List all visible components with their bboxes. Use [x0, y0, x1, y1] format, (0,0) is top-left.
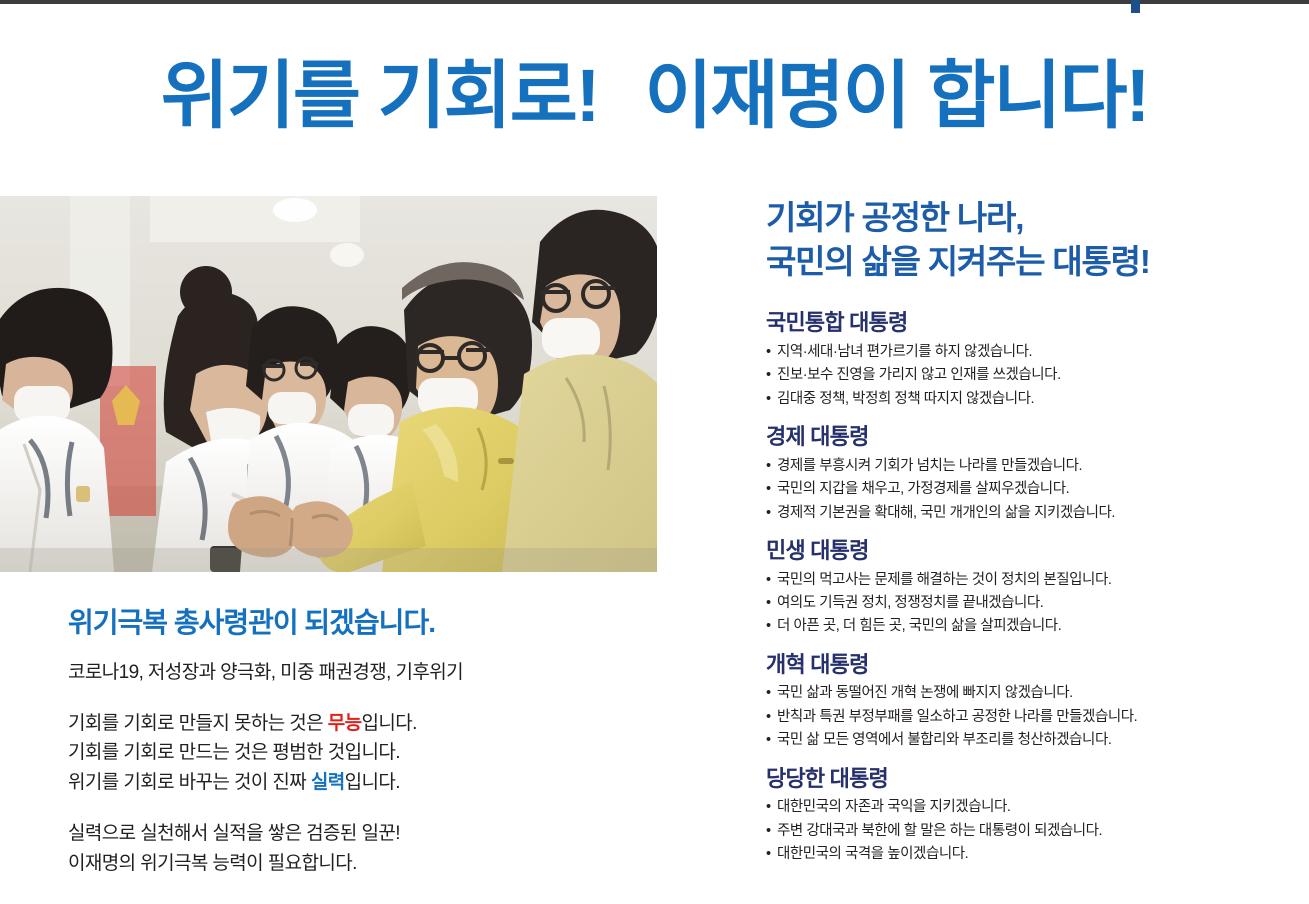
right-lead-line-2: 국민의 삶을 지켜주는 대통령!: [766, 240, 1296, 284]
left-line-3-highlight: 실력: [311, 772, 345, 793]
bullet-item: 진보·보수 진영을 가리지 않고 인재를 쓰겠습니다.: [766, 364, 1296, 387]
right-lead-heading: 기회가 공정한 나라, 국민의 삶을 지켜주는 대통령!: [766, 196, 1296, 283]
section-title-unity: 국민통합 대통령: [766, 309, 1296, 337]
top-blue-mark: [1131, 0, 1140, 13]
left-line-3: 위기를 기회로 바꾸는 것이 진짜 실력입니다.: [68, 768, 688, 797]
campaign-photo: [0, 196, 657, 572]
pledge-section-reform: 개혁 대통령 국민 삶과 동떨어진 개혁 논쟁에 빠지지 않겠습니다. 반칙과 …: [766, 651, 1296, 753]
photo-illustration: [0, 196, 657, 572]
left-line-1: 기회를 기회로 만들지 못하는 것은 무능입니다.: [68, 709, 688, 738]
bullet-item: 국민의 지갑을 채우고, 가정경제를 살찌우겠습니다.: [766, 478, 1296, 501]
left-line-3-after: 입니다.: [345, 772, 400, 793]
left-closing-2: 이재명의 위기극복 능력이 필요합니다.: [68, 849, 688, 878]
left-title: 위기극복 총사령관이 되겠습니다.: [68, 606, 688, 640]
paragraph-gap-2: [68, 797, 688, 819]
left-closing-1: 실력으로 실천해서 실적을 쌓은 검증된 일꾼!: [68, 819, 688, 848]
left-subtitle: 코로나19, 저성장과 양극화, 미중 패권경쟁, 기후위기: [68, 658, 688, 687]
section-title-dignity: 당당한 대통령: [766, 765, 1296, 793]
bullet-item: 대한민국의 국격을 높이겠습니다.: [766, 843, 1296, 866]
bullet-item: 여의도 기득권 정치, 정쟁정치를 끝내겠습니다.: [766, 592, 1296, 615]
pledge-section-livelihood: 민생 대통령 국민의 먹고사는 문제를 해결하는 것이 정치의 본질입니다. 여…: [766, 537, 1296, 639]
section-title-reform: 개혁 대통령: [766, 651, 1296, 679]
pledge-section-dignity: 당당한 대통령 대한민국의 자존과 국익을 지키겠습니다. 주변 강대국과 북한…: [766, 765, 1296, 867]
left-line-1-after: 입니다.: [361, 713, 416, 734]
headline-part-2: 이재명이 합니다!: [644, 54, 1148, 137]
top-trim-rule: [0, 0, 1309, 4]
bullet-item: 국민의 먹고사는 문제를 해결하는 것이 정치의 본질입니다.: [766, 569, 1296, 592]
section-title-livelihood: 민생 대통령: [766, 537, 1296, 565]
bullet-item: 경제적 기본권을 확대해, 국민 개개인의 삶을 지키겠습니다.: [766, 502, 1296, 525]
bullet-item: 주변 강대국과 북한에 할 말은 하는 대통령이 되겠습니다.: [766, 820, 1296, 843]
bullet-item: 대한민국의 자존과 국익을 지키겠습니다.: [766, 796, 1296, 819]
bullet-item: 지역·세대·남녀 편가르기를 하지 않겠습니다.: [766, 341, 1296, 364]
bullet-item: 국민 삶과 동떨어진 개혁 논쟁에 빠지지 않겠습니다.: [766, 682, 1296, 705]
bullet-item: 경제를 부흥시켜 기회가 넘치는 나라를 만들겠습니다.: [766, 455, 1296, 478]
section-title-economy: 경제 대통령: [766, 423, 1296, 451]
right-lead-line-1: 기회가 공정한 나라,: [766, 196, 1296, 240]
bullet-item: 김대중 정책, 박정희 정책 따지지 않겠습니다.: [766, 388, 1296, 411]
left-line-1-before: 기회를 기회로 만들지 못하는 것은: [68, 713, 328, 734]
paragraph-gap-1: [68, 687, 688, 709]
left-line-1-highlight: 무능: [328, 713, 362, 734]
bullet-item: 더 아픈 곳, 더 힘든 곳, 국민의 삶을 살피겠습니다.: [766, 615, 1296, 638]
left-column: [0, 196, 700, 572]
left-text-block: 위기극복 총사령관이 되겠습니다. 코로나19, 저성장과 양극화, 미중 패권…: [68, 606, 688, 878]
pledge-section-unity: 국민통합 대통령 지역·세대·남녀 편가르기를 하지 않겠습니다. 진보·보수 …: [766, 309, 1296, 411]
right-column: 기회가 공정한 나라, 국민의 삶을 지켜주는 대통령! 국민통합 대통령 지역…: [766, 196, 1296, 879]
left-line-2: 기회를 기회로 만드는 것은 평범한 것입니다.: [68, 738, 688, 767]
poster-page: 위기를 기회로!이재명이 합니다!: [0, 0, 1309, 904]
headline-part-1: 위기를 기회로!: [161, 54, 599, 137]
bullet-item: 국민 삶 모든 영역에서 불합리와 부조리를 청산하겠습니다.: [766, 729, 1296, 752]
bullet-item: 반칙과 특권 부정부패를 일소하고 공정한 나라를 만들겠습니다.: [766, 706, 1296, 729]
left-line-3-before: 위기를 기회로 바꾸는 것이 진짜: [68, 772, 311, 793]
main-headline: 위기를 기회로!이재명이 합니다!: [0, 52, 1309, 139]
left-line-2-before: 기회를 기회로 만드는 것은 평범한 것입니다.: [68, 742, 400, 763]
pledge-section-economy: 경제 대통령 경제를 부흥시켜 기회가 넘치는 나라를 만들겠습니다. 국민의 …: [766, 423, 1296, 525]
